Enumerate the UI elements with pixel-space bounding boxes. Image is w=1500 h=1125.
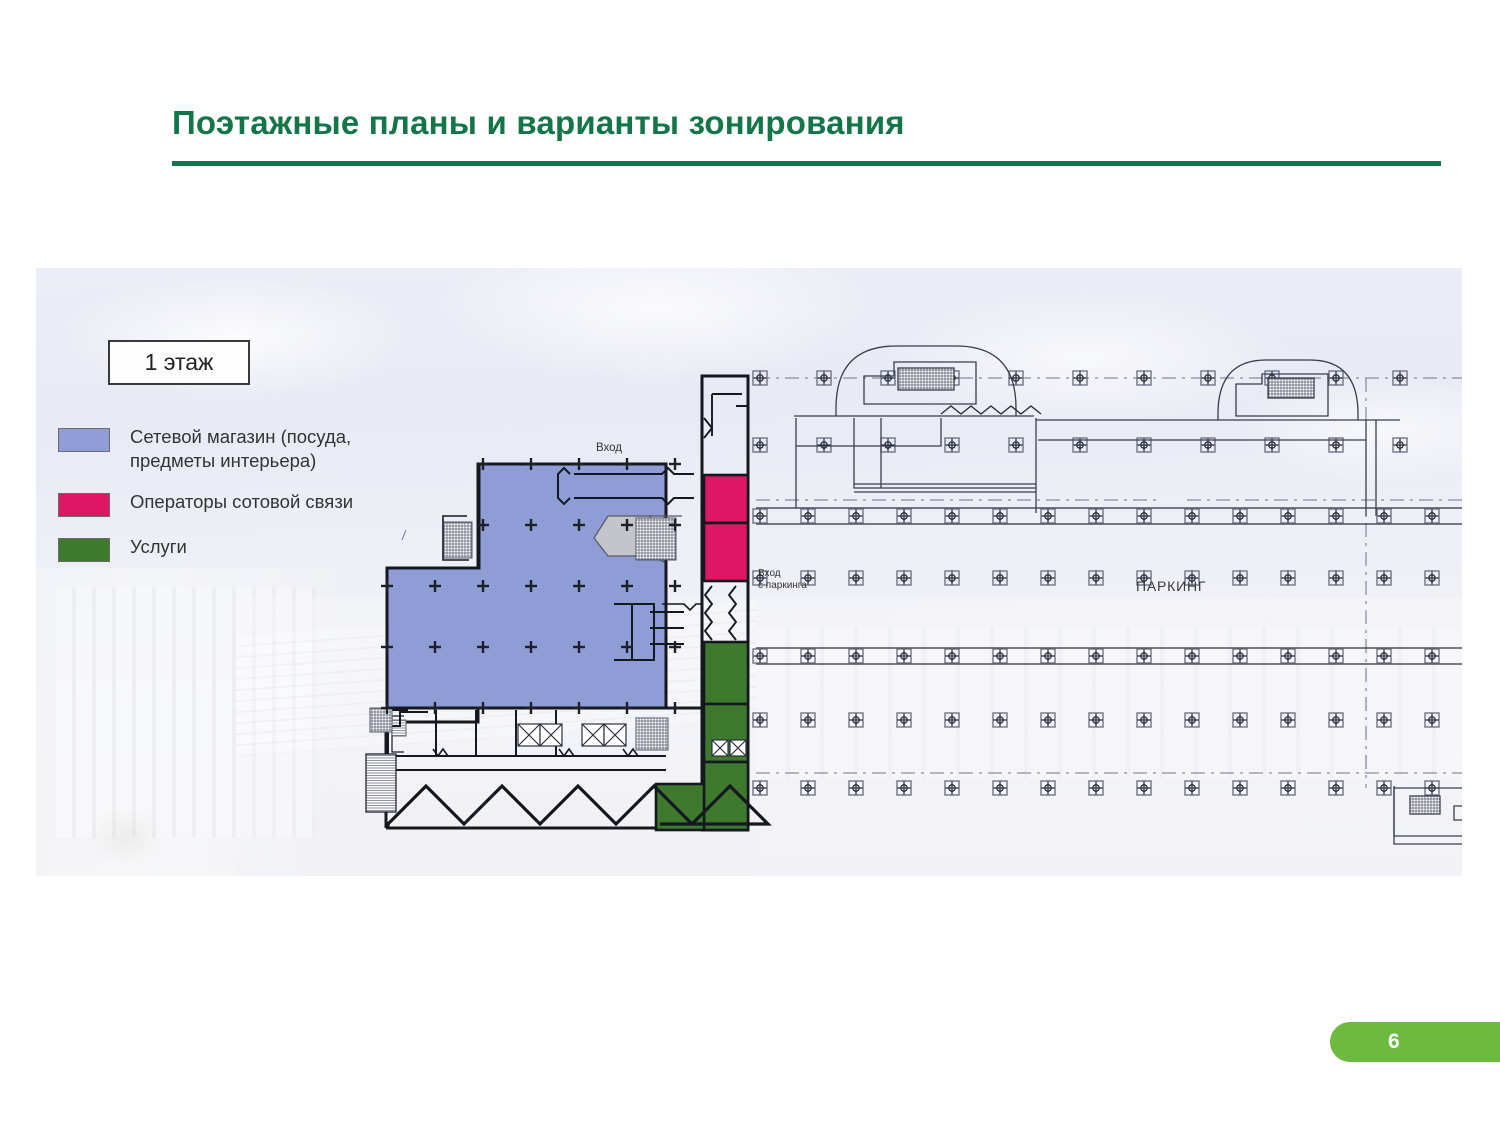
legend-label-services: Услуги bbox=[130, 535, 187, 559]
floor-caption-box: 1 этаж bbox=[108, 340, 250, 385]
page-title: Поэтажные планы и варианты зонирования bbox=[172, 104, 905, 142]
legend-item-mobile-operators: Операторы сотовой связи bbox=[58, 490, 358, 517]
legend-label-network-store: Сетевой магазин (посуда, предметы интерь… bbox=[130, 425, 358, 472]
legend-label-mobile-operators: Операторы сотовой связи bbox=[130, 490, 353, 514]
legend-item-services: Услуги bbox=[58, 535, 358, 562]
plan-legend: Сетевой магазин (посуда, предметы интерь… bbox=[58, 425, 358, 580]
legend-item-network-store: Сетевой магазин (посуда, предметы интерь… bbox=[58, 425, 358, 472]
title-underline-rule bbox=[172, 161, 1441, 166]
page-number-badge: 6 bbox=[1330, 1022, 1500, 1062]
plan-label-entrance-from-parking: Вход с паркинга bbox=[758, 568, 807, 592]
plan-label-entrance: Вход bbox=[596, 442, 622, 456]
legend-swatch-network-store bbox=[58, 428, 110, 452]
page-number-text: 6 bbox=[1388, 1030, 1400, 1054]
floor-caption-text: 1 этаж bbox=[145, 349, 214, 376]
legend-swatch-services bbox=[58, 538, 110, 562]
floor-plan-figure: 1 этаж Сетевой магазин (посуда, предметы… bbox=[36, 268, 1462, 876]
legend-swatch-mobile-operators bbox=[58, 493, 110, 517]
plan-label-parking: ПАРКИНГ bbox=[1136, 578, 1206, 595]
